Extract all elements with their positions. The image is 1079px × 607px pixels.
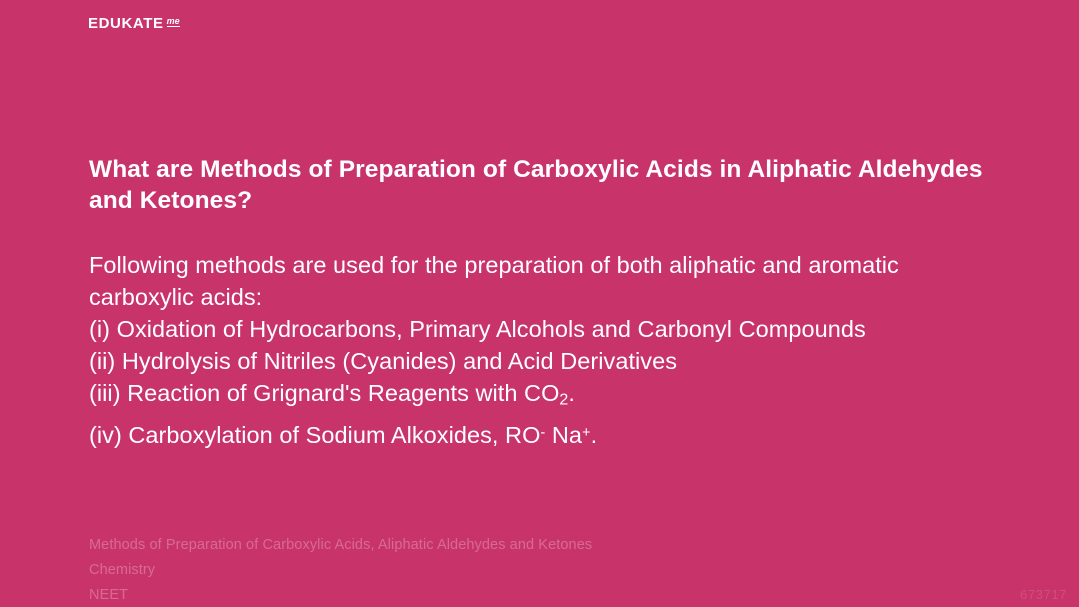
method-item-ii: (ii) Hydrolysis of Nitriles (Cyanides) a… [89, 345, 999, 377]
edukate-logo[interactable]: EDUKATE me [88, 16, 180, 32]
logo-superscript-me: me [167, 16, 180, 27]
method-ii-prefix: (ii) [89, 348, 122, 374]
method-item-iv: (iv) Carboxylation of Sodium Alkoxides, … [89, 419, 999, 451]
method-iv-text: Carboxylation of Sodium Alkoxides, RO [128, 422, 540, 448]
method-item-iii: (iii) Reaction of Grignard's Reagents wi… [89, 377, 999, 409]
method-item-i: (i) Oxidation of Hydrocarbons, Primary A… [89, 313, 999, 345]
method-iv-text-end: . [591, 422, 598, 448]
method-iii-text: Reaction of Grignard's Reagents with CO [127, 380, 559, 406]
method-iii-text-end: . [568, 380, 575, 406]
slide-canvas: EDUKATE me What are Methods of Preparati… [0, 0, 1079, 607]
footer-topic: Methods of Preparation of Carboxylic Aci… [89, 533, 592, 558]
method-iii-prefix: (iii) [89, 380, 127, 406]
footer-exam: NEET [89, 583, 592, 607]
method-iv-text-middle: Na [545, 422, 582, 448]
page-title: What are Methods of Preparation of Carbo… [89, 154, 984, 216]
body-content: Following methods are used for the prepa… [89, 249, 999, 451]
method-ii-text: Hydrolysis of Nitriles (Cyanides) and Ac… [122, 348, 677, 374]
logo-wordmark: EDUKATE [88, 16, 164, 32]
method-iv-prefix: (iv) [89, 422, 128, 448]
intro-paragraph: Following methods are used for the prepa… [89, 249, 999, 313]
method-i-text: Oxidation of Hydrocarbons, Primary Alcoh… [117, 316, 866, 342]
watermark-id: 673717 [1020, 587, 1067, 602]
footer-metadata: Methods of Preparation of Carboxylic Aci… [89, 533, 592, 607]
sodium-plus-superscript: + [582, 425, 591, 441]
footer-subject: Chemistry [89, 558, 592, 583]
method-i-prefix: (i) [89, 316, 117, 342]
co2-subscript: 2 [559, 392, 568, 409]
